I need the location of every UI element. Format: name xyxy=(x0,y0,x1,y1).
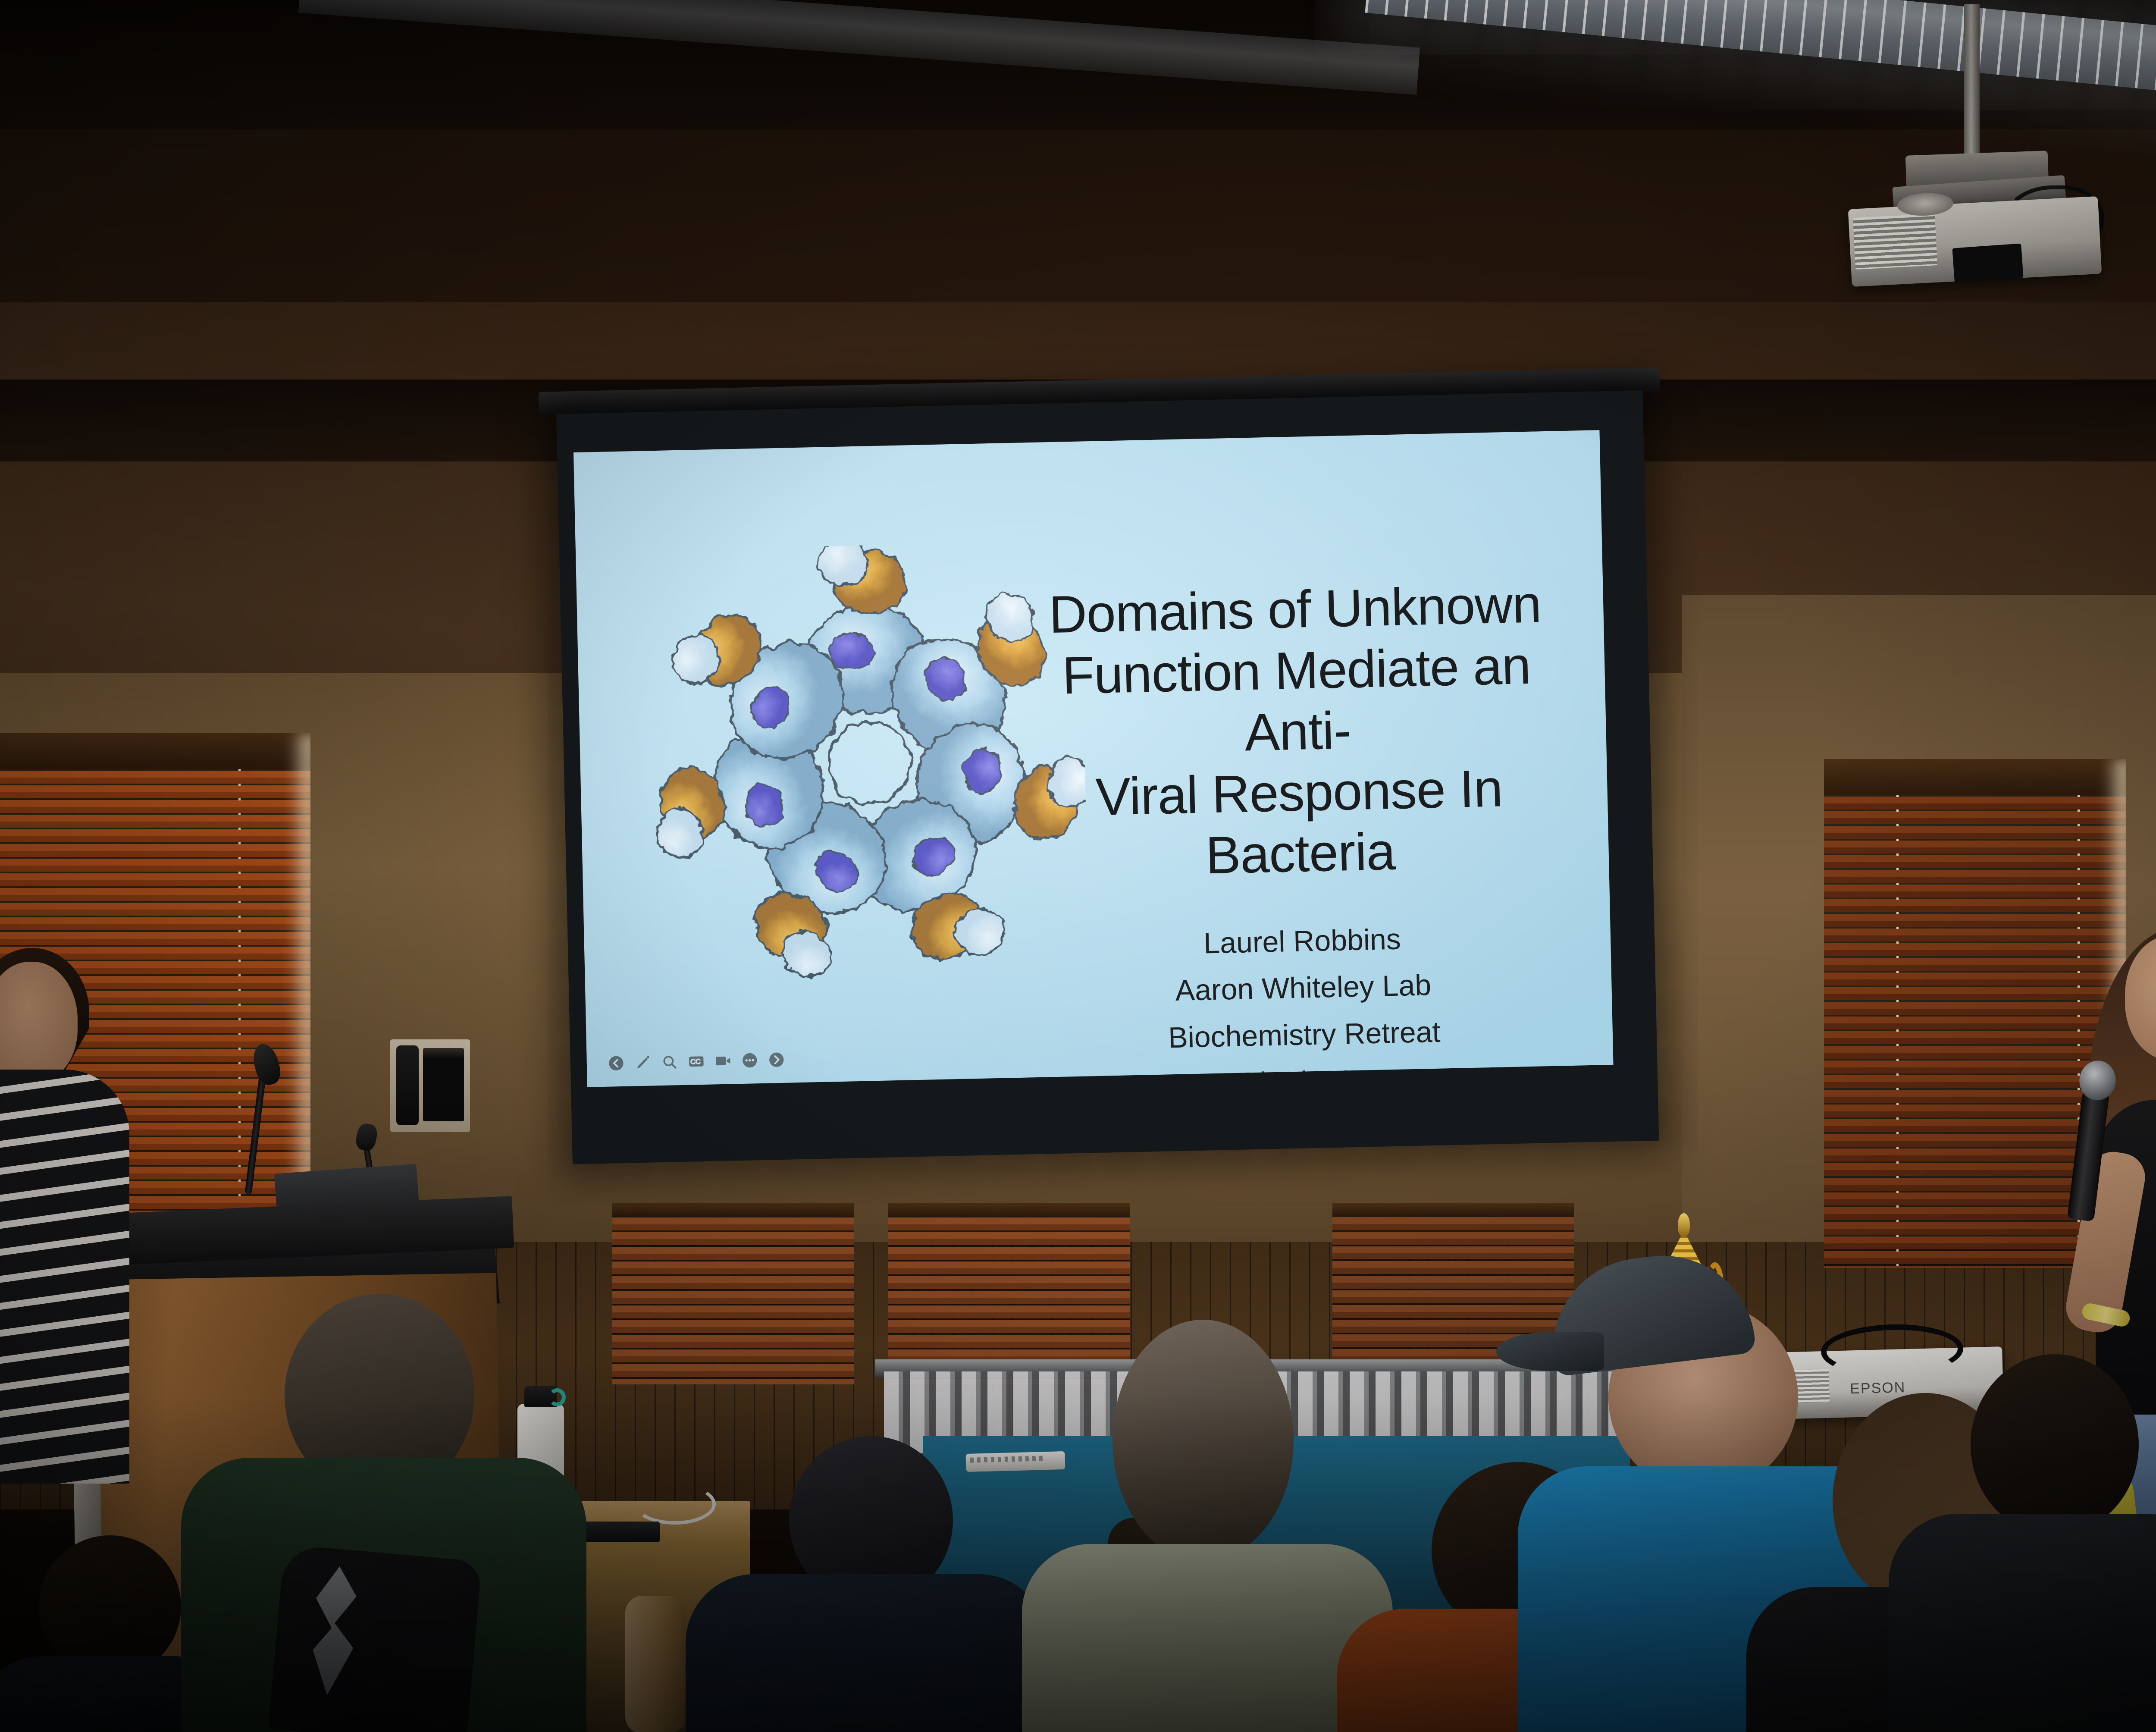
telephone-keypad-panel[interactable] xyxy=(423,1048,464,1121)
more-options-icon[interactable] xyxy=(741,1051,758,1069)
slide-title-line-3: Viral Response In Bacteria xyxy=(1033,756,1566,890)
slide-subtitle: Laurel Robbins Aaron Whiteley Lab Bioche… xyxy=(1037,912,1571,1087)
slide-text-block: Domains of Unknown Function Mediate an A… xyxy=(1029,573,1571,1087)
projection-screen: Domains of Unknown Function Mediate an A… xyxy=(556,390,1659,1164)
pen-icon[interactable] xyxy=(634,1054,652,1072)
presentation-toolbar[interactable] xyxy=(607,1051,785,1072)
audience-body xyxy=(686,1574,1048,1732)
wall-telephone[interactable] xyxy=(390,1039,470,1132)
slide-title-line-1: Domains of Unknown xyxy=(1029,573,1561,646)
blind-headrail xyxy=(612,1203,854,1216)
audience-head xyxy=(1112,1320,1294,1561)
audience-body xyxy=(1889,1514,2156,1732)
telephone-handset[interactable] xyxy=(396,1045,419,1125)
previous-slide-icon[interactable] xyxy=(607,1054,625,1072)
projector-mount-pole xyxy=(1964,4,1980,164)
blind-headrail xyxy=(1332,1203,1574,1215)
presentation-slide: Domains of Unknown Function Mediate an A… xyxy=(573,430,1614,1087)
window-light-glow xyxy=(289,733,310,1242)
blind-headrail xyxy=(1824,759,2126,795)
trophy-finial xyxy=(1678,1213,1690,1236)
next-slide-icon[interactable] xyxy=(768,1051,785,1069)
charging-cable xyxy=(634,1484,716,1525)
projector-power-brick xyxy=(1952,244,2023,283)
closed-captions-icon[interactable] xyxy=(687,1053,705,1070)
blind-cord[interactable] xyxy=(238,769,241,1242)
blind-headrail xyxy=(888,1203,1130,1216)
moderator-at-podium xyxy=(0,962,138,1479)
audience-head xyxy=(1971,1354,2139,1535)
projection-screen-assembly: Domains of Unknown Function Mediate an A… xyxy=(556,390,1659,1164)
window-blinds-mid-1[interactable] xyxy=(612,1203,854,1384)
blind-cord[interactable] xyxy=(1896,795,1899,1268)
blind-slats xyxy=(612,1216,854,1384)
protein-complex-figure xyxy=(649,541,1090,986)
slide-title: Domains of Unknown Function Mediate an A… xyxy=(1029,573,1566,890)
audience-member xyxy=(686,1436,1048,1732)
backpack xyxy=(268,1544,482,1732)
blind-headrail xyxy=(0,733,310,769)
zoom-icon[interactable] xyxy=(661,1053,678,1071)
slide-title-line-2: Function Mediate an Anti- xyxy=(1031,634,1564,768)
projector-vent xyxy=(1853,213,1937,270)
presentation-room-scene: EXIT xyxy=(0,0,2156,1732)
camera-icon[interactable] xyxy=(714,1052,732,1070)
moderator-striped-top xyxy=(0,1070,129,1484)
log-chair xyxy=(625,1596,686,1732)
